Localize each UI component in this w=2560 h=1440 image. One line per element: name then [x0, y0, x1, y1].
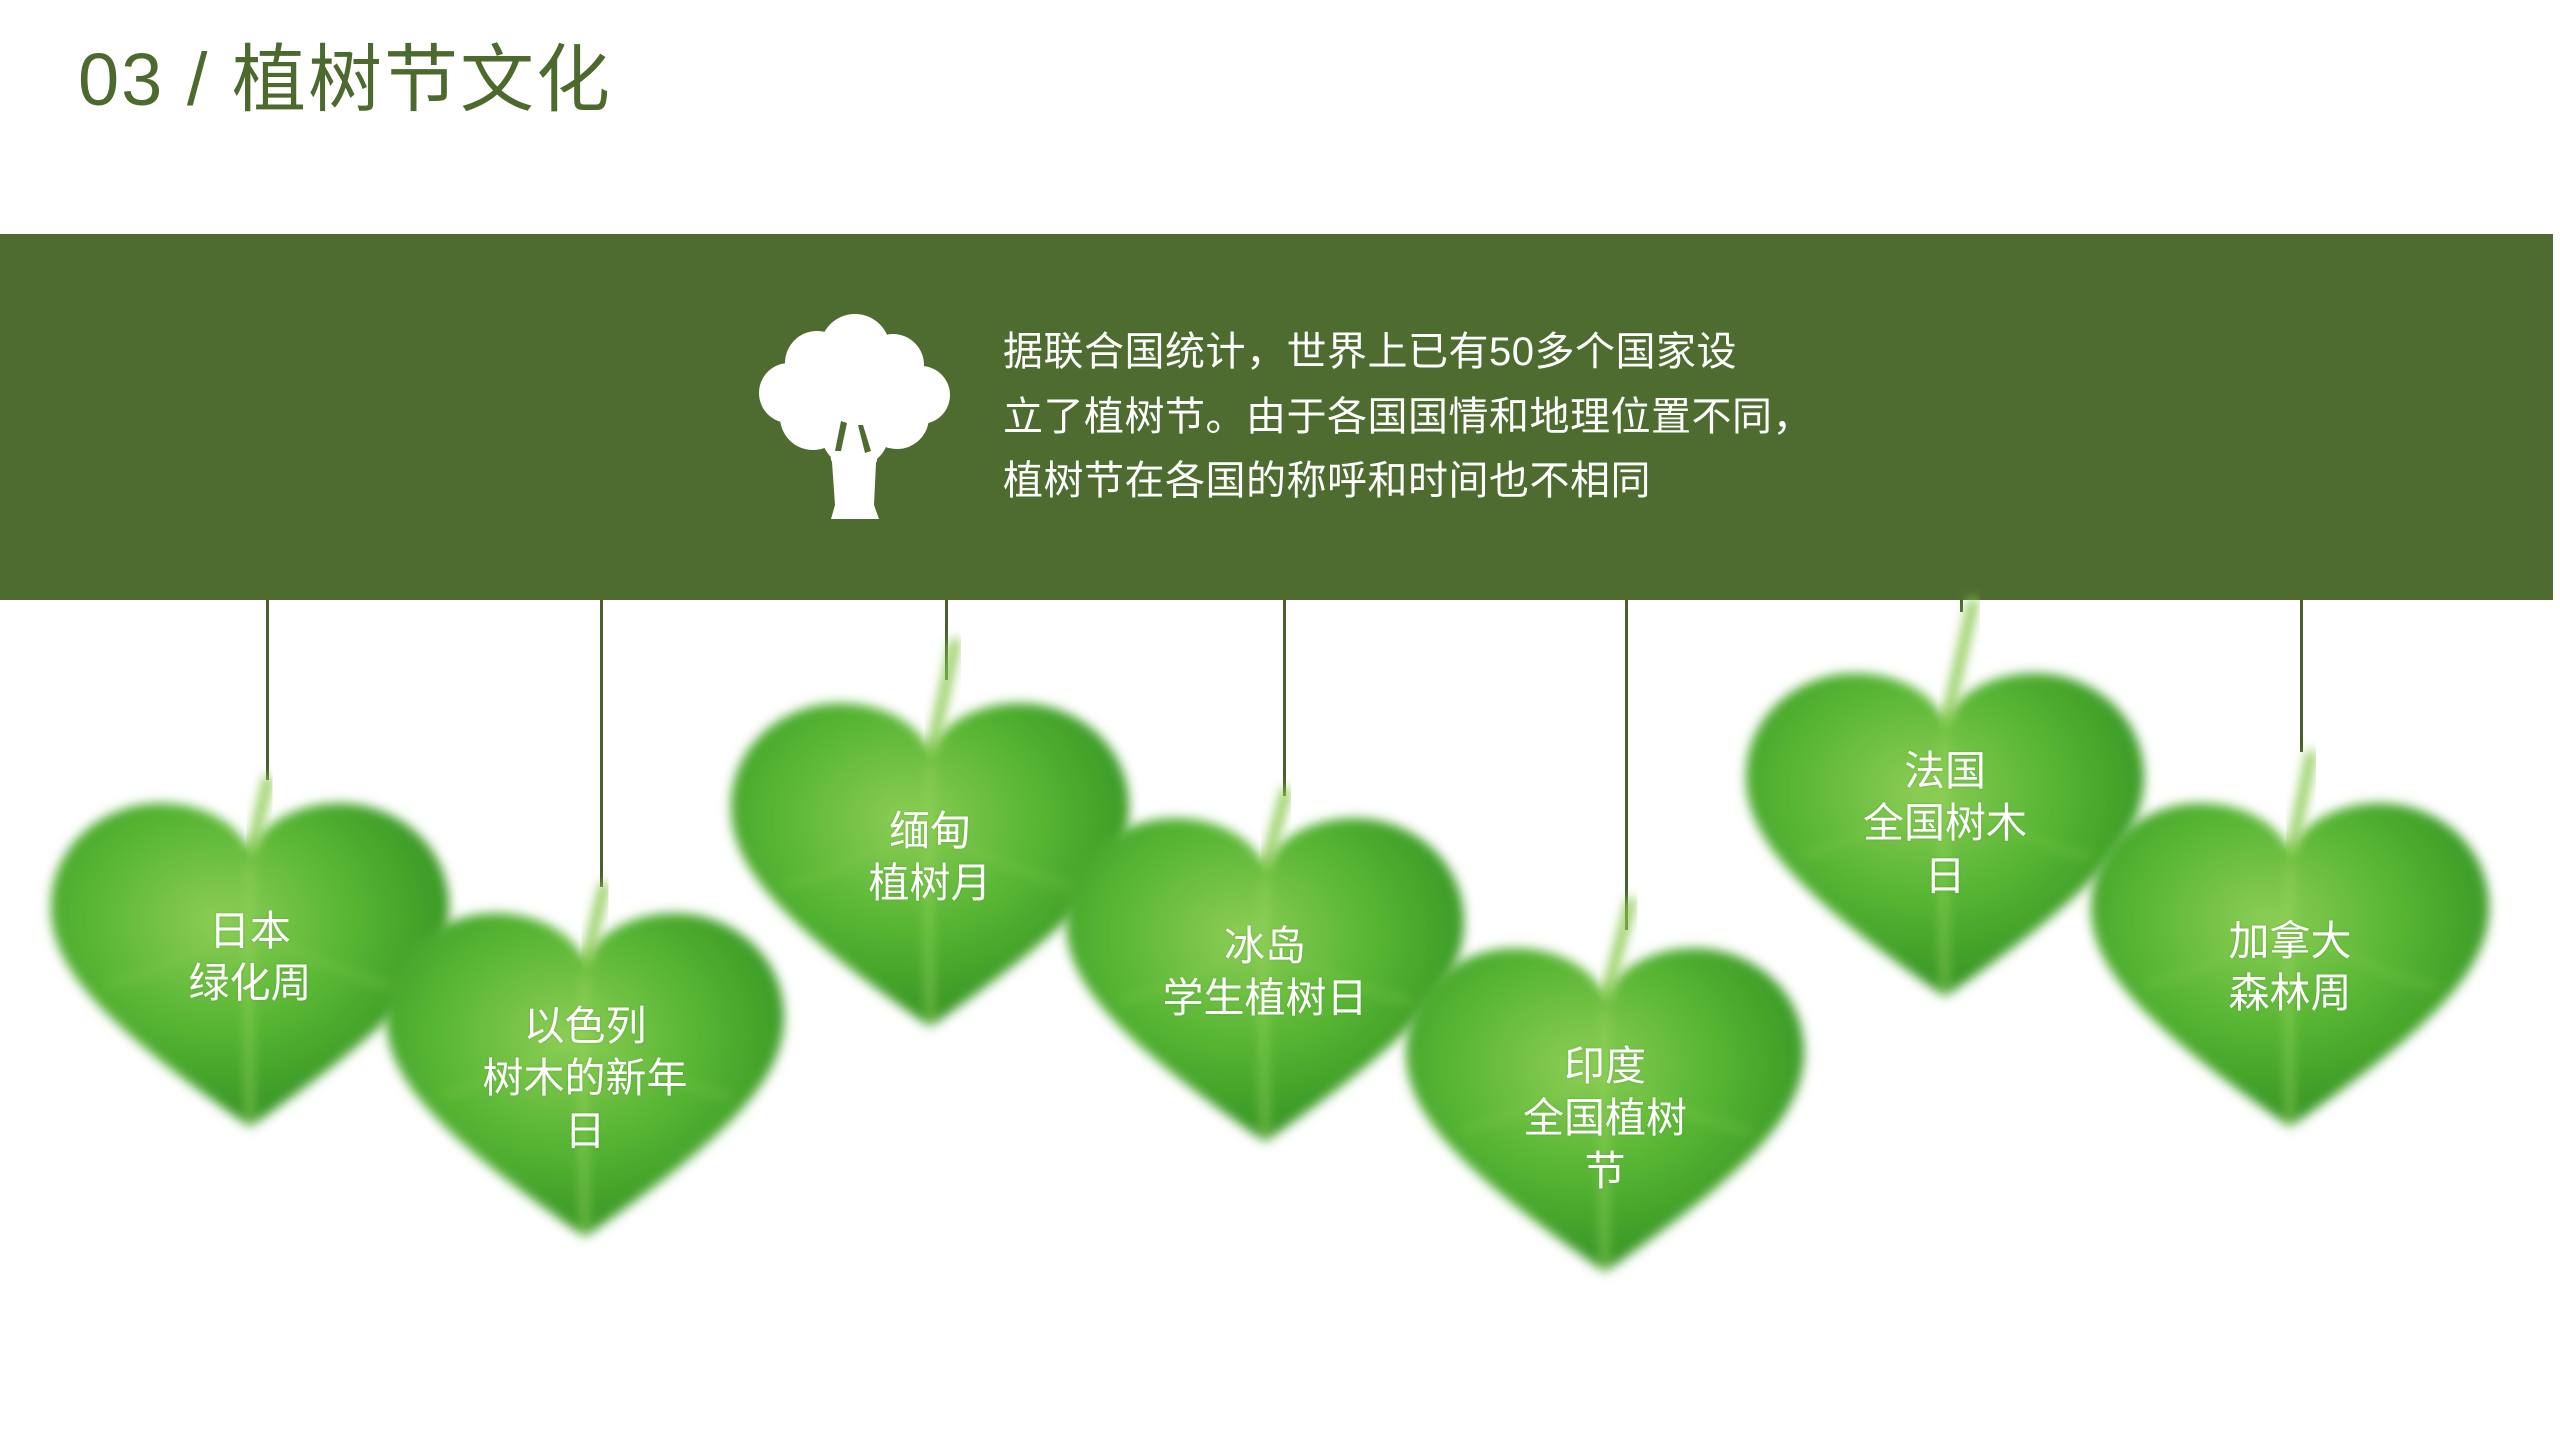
hanging-string-2 [600, 600, 603, 887]
hanging-string-4 [1283, 600, 1286, 796]
banner-content: 据联合国统计，世界上已有50多个国家设 立了植树节。由于各国国情和地理位置不同，… [755, 234, 1813, 600]
tree-icon [755, 305, 955, 535]
page-title: 03 / 植树节文化 [78, 34, 612, 127]
hanging-string-7 [2300, 600, 2303, 752]
leaf-card-7[interactable]: 加拿大 森林周 [2075, 775, 2505, 1135]
slide-root: 03 / 植树节文化 [0, 0, 2560, 1440]
banner-paragraph: 据联合国统计，世界上已有50多个国家设 立了植树节。由于各国国情和地理位置不同，… [1003, 320, 1813, 514]
hanging-string-5 [1625, 600, 1628, 930]
hanging-string-6 [1960, 600, 1963, 612]
intro-banner: 据联合国统计，世界上已有50多个国家设 立了植树节。由于各国国情和地理位置不同，… [0, 234, 2553, 600]
hanging-string-1 [266, 600, 269, 780]
